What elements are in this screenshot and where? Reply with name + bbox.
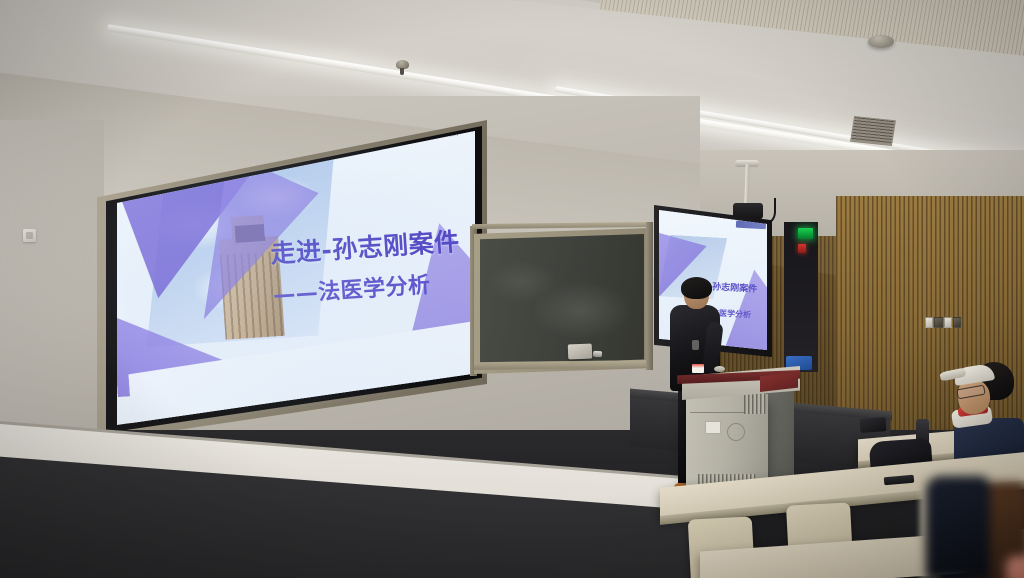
foreground-person-shoulder bbox=[926, 476, 990, 578]
exit-sign-icon bbox=[798, 228, 813, 239]
smoke-detector-icon bbox=[868, 35, 894, 48]
presenter-hoodie-logo bbox=[692, 340, 699, 350]
chalkboard-eraser[interactable] bbox=[593, 351, 602, 358]
sprinkler-icon bbox=[396, 60, 409, 69]
fire-alarm-icon bbox=[798, 244, 806, 253]
podium-emblem-icon bbox=[727, 423, 745, 441]
light-switch[interactable] bbox=[23, 229, 36, 242]
left-wall-return bbox=[0, 120, 104, 450]
presenter-hair bbox=[681, 277, 712, 299]
podium-vent bbox=[744, 392, 766, 414]
speaker-box bbox=[568, 344, 593, 360]
blackboard-rail bbox=[646, 222, 653, 370]
lecture-hall-scene: 西安交通大学 XI'AN JIAOTONG UNIVERSITY 走进-孙志刚案… bbox=[0, 0, 1024, 578]
podium-side-panel bbox=[764, 386, 794, 486]
foreground-person bbox=[932, 470, 1024, 578]
podium-mouse-icon[interactable] bbox=[714, 366, 725, 372]
dark-object-on-desk bbox=[860, 417, 887, 433]
wall-switch-bank[interactable] bbox=[925, 317, 961, 328]
podium-label bbox=[705, 421, 721, 434]
blackboard bbox=[480, 234, 644, 366]
podium-cup bbox=[692, 364, 704, 373]
air-vent-grille bbox=[850, 116, 896, 146]
foreground-person-arm bbox=[1006, 556, 1024, 578]
